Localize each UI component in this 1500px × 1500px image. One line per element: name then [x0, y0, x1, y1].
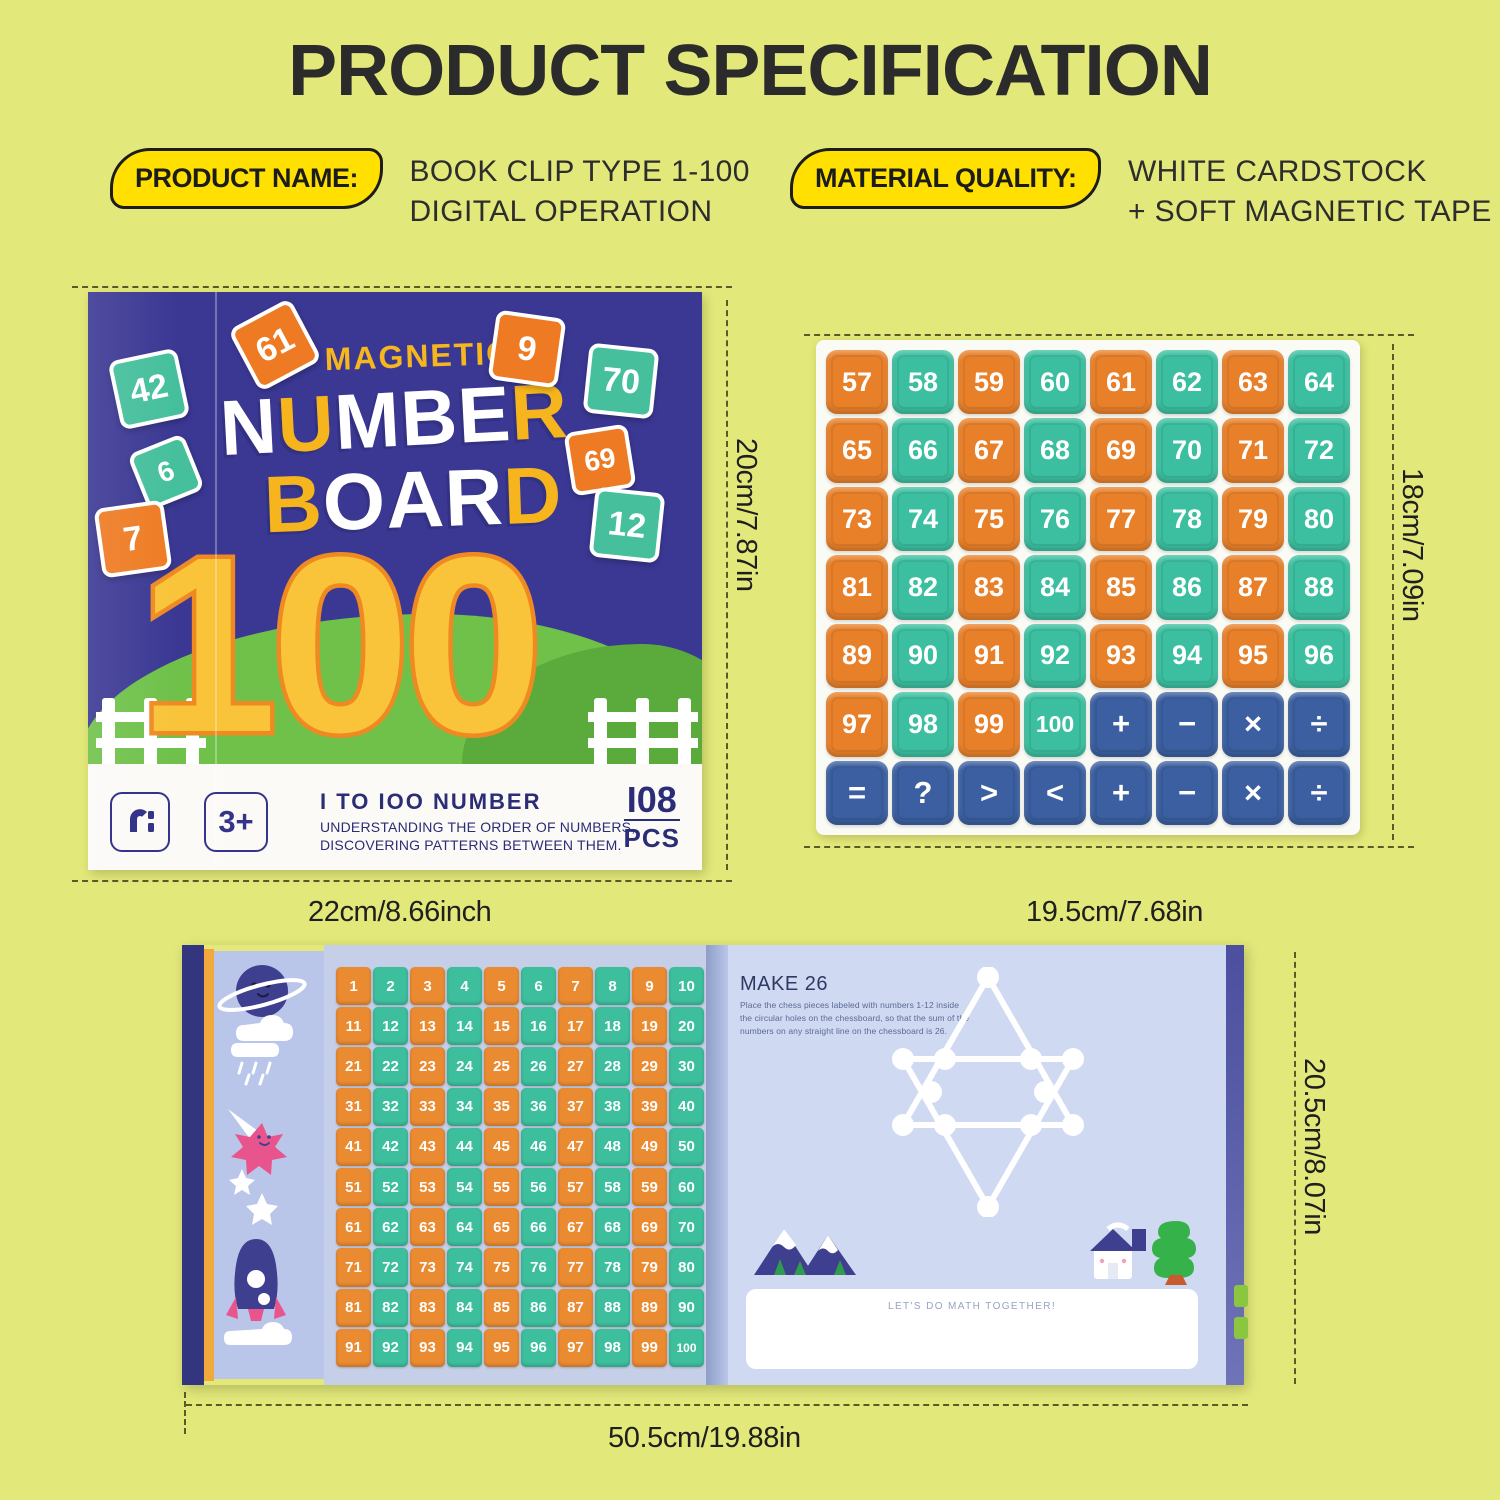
cover-pcs-number: I08 [624, 783, 680, 817]
book-left-cover [182, 945, 204, 1385]
grid-tile-26[interactable]: 26 [521, 1047, 556, 1085]
tile-58[interactable]: 58 [892, 350, 954, 414]
spec-value-product-name-line2: DIGITAL OPERATION [409, 195, 712, 228]
grid-tile-98[interactable]: 98 [595, 1329, 630, 1367]
cover-pcs-label: PCS [624, 823, 680, 854]
age-badge: 3+ [204, 792, 268, 852]
tile-87[interactable]: 87 [1222, 555, 1284, 619]
book-dim-bottom-guide [186, 1404, 1248, 1406]
tile-100[interactable]: 100 [1024, 692, 1086, 756]
grid-tile-79[interactable]: 79 [632, 1248, 667, 1286]
planet-icon [217, 965, 307, 1017]
tile-−[interactable]: − [1156, 761, 1218, 825]
spec-label-material-quality: MATERIAL QUALITY: [790, 148, 1101, 209]
grid-tile-89[interactable]: 89 [632, 1289, 667, 1327]
book-height-label: 20.5cm/8.07in [1297, 1058, 1330, 1235]
spec-material-quality: MATERIAL QUALITY: WHITE CARDSTOCK + SOFT… [790, 148, 1492, 224]
grid-tile-41[interactable]: 41 [336, 1128, 371, 1166]
tile-64[interactable]: 64 [1288, 350, 1350, 414]
grid-tile-72[interactable]: 72 [373, 1248, 408, 1286]
grid-tile-31[interactable]: 31 [336, 1088, 371, 1126]
grid-tile-71[interactable]: 71 [336, 1248, 371, 1286]
tile-×[interactable]: × [1222, 761, 1284, 825]
grid-tile-85[interactable]: 85 [484, 1289, 519, 1327]
rocket-icon [224, 1239, 292, 1345]
grid-tile-9[interactable]: 9 [632, 967, 667, 1005]
grid-tile-20[interactable]: 20 [669, 1007, 704, 1045]
grid-tile-45[interactable]: 45 [484, 1128, 519, 1166]
grid-tile-84[interactable]: 84 [447, 1289, 482, 1327]
grid-tile-33[interactable]: 33 [410, 1088, 445, 1126]
grid-tile-2[interactable]: 2 [373, 967, 408, 1005]
cover-fold-line [88, 292, 217, 870]
grid-tile-97[interactable]: 97 [558, 1329, 593, 1367]
grid-tile-25[interactable]: 25 [484, 1047, 519, 1085]
grid-tile-6[interactable]: 6 [521, 967, 556, 1005]
grid-tile-69[interactable]: 69 [632, 1208, 667, 1246]
grid-tile-14[interactable]: 14 [447, 1007, 482, 1045]
book-spine-edge [204, 949, 214, 1381]
box-height-label: 20cm/7.87in [729, 438, 762, 592]
grid-tile-28[interactable]: 28 [595, 1047, 630, 1085]
tile-71[interactable]: 71 [1222, 418, 1284, 482]
grid-tile-51[interactable]: 51 [336, 1168, 371, 1206]
tile-=[interactable]: = [826, 761, 888, 825]
grid-tile-40[interactable]: 40 [669, 1088, 704, 1126]
tile-80[interactable]: 80 [1288, 487, 1350, 551]
tile-91[interactable]: 91 [958, 624, 1020, 688]
grid-tile-15[interactable]: 15 [484, 1007, 519, 1045]
grid-tile-38[interactable]: 38 [595, 1088, 630, 1126]
grid-tile-81[interactable]: 81 [336, 1289, 371, 1327]
grid-tile-46[interactable]: 46 [521, 1128, 556, 1166]
cover-desc-title: I TO IOO NUMBER [320, 789, 635, 815]
grid-tile-91[interactable]: 91 [336, 1329, 371, 1367]
grid-tile-7[interactable]: 7 [558, 967, 593, 1005]
grid-tile-53[interactable]: 53 [410, 1168, 445, 1206]
spec-value-product-name-line1: BOOK CLIP TYPE 1-100 [409, 155, 749, 188]
grid-tile-86[interactable]: 86 [521, 1289, 556, 1327]
spec-value-material-quality-line2: + SOFT MAGNETIC TAPE [1128, 195, 1492, 228]
grid-tile-39[interactable]: 39 [632, 1088, 667, 1126]
grid-tile-96[interactable]: 96 [521, 1329, 556, 1367]
rain-cloud-icon [231, 1015, 293, 1084]
cover-card-12: 12 [589, 487, 666, 564]
mountain-icon [750, 1221, 870, 1277]
grid-tile-11[interactable]: 11 [336, 1007, 371, 1045]
tile-81[interactable]: 81 [826, 555, 888, 619]
tile-66[interactable]: 66 [892, 418, 954, 482]
book-dim-left-guide [184, 1392, 186, 1434]
tile-+[interactable]: + [1090, 761, 1152, 825]
tile-grid: 5758596061626364656667686970717273747576… [826, 350, 1350, 825]
cover-description: I TO IOO NUMBER UNDERSTANDING THE ORDER … [320, 789, 635, 854]
tile-72[interactable]: 72 [1288, 418, 1350, 482]
spec-value-material-quality: WHITE CARDSTOCK + SOFT MAGNETIC TAPE [1128, 148, 1492, 231]
star-icon [229, 1169, 278, 1225]
tile-62[interactable]: 62 [1156, 350, 1218, 414]
grid-tile-100[interactable]: 100 [669, 1329, 704, 1367]
cover-desc-line1: UNDERSTANDING THE ORDER OF NUMBERS, [320, 818, 635, 836]
grid-tile-80[interactable]: 80 [669, 1248, 704, 1286]
tile-92[interactable]: 92 [1024, 624, 1086, 688]
tile-69[interactable]: 69 [1090, 418, 1152, 482]
shooting-star-icon [228, 1109, 287, 1175]
book-dim-right-guide [1294, 952, 1296, 1384]
tile-86[interactable]: 86 [1156, 555, 1218, 619]
grid-tile-49[interactable]: 49 [632, 1128, 667, 1166]
board-dim-bottom-guide [804, 846, 1414, 848]
book-left-page: 1234567891011121314151617181920212223242… [324, 945, 716, 1385]
box-dim-right-guide [726, 300, 728, 870]
grid-tile-59[interactable]: 59 [632, 1168, 667, 1206]
tile-65[interactable]: 65 [826, 418, 888, 482]
tile-<[interactable]: < [1024, 761, 1086, 825]
tile-−[interactable]: − [1156, 692, 1218, 756]
grid-tile-36[interactable]: 36 [521, 1088, 556, 1126]
grid-tile-21[interactable]: 21 [336, 1047, 371, 1085]
tile-63[interactable]: 63 [1222, 350, 1284, 414]
grid-tile-24[interactable]: 24 [447, 1047, 482, 1085]
grid-tile-73[interactable]: 73 [410, 1248, 445, 1286]
green-tab-1 [1234, 1285, 1248, 1307]
grid-tile-68[interactable]: 68 [595, 1208, 630, 1246]
grid-tile-18[interactable]: 18 [595, 1007, 630, 1045]
grid-tile-87[interactable]: 87 [558, 1289, 593, 1327]
tile-÷[interactable]: ÷ [1288, 692, 1350, 756]
grid-tile-82[interactable]: 82 [373, 1289, 408, 1327]
spec-value-product-name: BOOK CLIP TYPE 1-100 DIGITAL OPERATION [409, 148, 749, 231]
grid-tile-13[interactable]: 13 [410, 1007, 445, 1045]
tile-88[interactable]: 88 [1288, 555, 1350, 619]
star-of-david-diagram [838, 967, 1138, 1217]
grid-tile-62[interactable]: 62 [373, 1208, 408, 1246]
grid-tile-52[interactable]: 52 [373, 1168, 408, 1206]
grid-tile-37[interactable]: 37 [558, 1088, 593, 1126]
grid-tile-90[interactable]: 90 [669, 1289, 704, 1327]
grid-tile-64[interactable]: 64 [447, 1208, 482, 1246]
grid-tile-55[interactable]: 55 [484, 1168, 519, 1206]
grid-tile-16[interactable]: 16 [521, 1007, 556, 1045]
grid-tile-58[interactable]: 58 [595, 1168, 630, 1206]
grid-tile-1[interactable]: 1 [336, 967, 371, 1005]
tile-73[interactable]: 73 [826, 487, 888, 551]
cover-card-69: 69 [563, 423, 636, 496]
page-title: PRODUCT SPECIFICATION [0, 30, 1500, 112]
grid-tile-17[interactable]: 17 [558, 1007, 593, 1045]
tile-77[interactable]: 77 [1090, 487, 1152, 551]
box-dim-bottom-guide [72, 880, 732, 882]
grid-tile-60[interactable]: 60 [669, 1168, 704, 1206]
grid-tile-8[interactable]: 8 [595, 967, 630, 1005]
tile-÷[interactable]: ÷ [1288, 761, 1350, 825]
grid-tile-92[interactable]: 92 [373, 1329, 408, 1367]
board-dim-right-guide [1392, 344, 1394, 840]
book-right-cover [1226, 945, 1244, 1385]
open-book-spread: 1234567891011121314151617181920212223242… [182, 945, 1244, 1385]
tile-74[interactable]: 74 [892, 487, 954, 551]
grid-tile-47[interactable]: 47 [558, 1128, 593, 1166]
tile-67[interactable]: 67 [958, 418, 1020, 482]
grid-tile-44[interactable]: 44 [447, 1128, 482, 1166]
tile-76[interactable]: 76 [1024, 487, 1086, 551]
tile-98[interactable]: 98 [892, 692, 954, 756]
grid-tile-34[interactable]: 34 [447, 1088, 482, 1126]
book-right-page: MAKE 26 Place the chess pieces labeled w… [728, 945, 1226, 1385]
book-width-label: 50.5cm/19.88in [608, 1422, 801, 1455]
grid-tile-54[interactable]: 54 [447, 1168, 482, 1206]
grid-tile-78[interactable]: 78 [595, 1248, 630, 1286]
grid-tile-43[interactable]: 43 [410, 1128, 445, 1166]
grid-tile-95[interactable]: 95 [484, 1329, 519, 1367]
tile-94[interactable]: 94 [1156, 624, 1218, 688]
tile-82[interactable]: 82 [892, 555, 954, 619]
board-dim-top-guide [804, 334, 1414, 336]
grid-tile-23[interactable]: 23 [410, 1047, 445, 1085]
tile-79[interactable]: 79 [1222, 487, 1284, 551]
grid-tile-19[interactable]: 19 [632, 1007, 667, 1045]
tile-89[interactable]: 89 [826, 624, 888, 688]
tile-59[interactable]: 59 [958, 350, 1020, 414]
tile-93[interactable]: 93 [1090, 624, 1152, 688]
grid-tile-93[interactable]: 93 [410, 1329, 445, 1367]
grid-tile-50[interactable]: 50 [669, 1128, 704, 1166]
grid-tile-75[interactable]: 75 [484, 1248, 519, 1286]
math-box-label: LET'S DO MATH TOGETHER! [746, 1289, 1198, 1312]
cover-card-9: 9 [487, 309, 566, 388]
grid-tile-42[interactable]: 42 [373, 1128, 408, 1166]
grid-tile-77[interactable]: 77 [558, 1248, 593, 1286]
magnetic-tile-board: 5758596061626364656667686970717273747576… [816, 340, 1360, 835]
board-width-label: 19.5cm/7.68in [1026, 896, 1203, 929]
grid-tile-29[interactable]: 29 [632, 1047, 667, 1085]
grid-tile-76[interactable]: 76 [521, 1248, 556, 1286]
tile-×[interactable]: × [1222, 692, 1284, 756]
cover-pieces-count: I08 PCS [624, 783, 680, 854]
grid-tile-4[interactable]: 4 [447, 967, 482, 1005]
grid-tile-3[interactable]: 3 [410, 967, 445, 1005]
grid-tile-63[interactable]: 63 [410, 1208, 445, 1246]
tile-85[interactable]: 85 [1090, 555, 1152, 619]
grid-tile-35[interactable]: 35 [484, 1088, 519, 1126]
grid-tile-67[interactable]: 67 [558, 1208, 593, 1246]
grid-tile-56[interactable]: 56 [521, 1168, 556, 1206]
grid-tile-12[interactable]: 12 [373, 1007, 408, 1045]
box-dim-top-guide [72, 286, 732, 288]
tile-70[interactable]: 70 [1156, 418, 1218, 482]
tile-84[interactable]: 84 [1024, 555, 1086, 619]
grid-tile-94[interactable]: 94 [447, 1329, 482, 1367]
book-gutter [706, 945, 728, 1385]
tile-75[interactable]: 75 [958, 487, 1020, 551]
tree-icon [1146, 1219, 1204, 1285]
product-box-cover: MAGNETIC NUMBER BOARD 100 61 42 6 7 9 70… [88, 292, 702, 870]
cover-card-70: 70 [583, 343, 660, 420]
tile-68[interactable]: 68 [1024, 418, 1086, 482]
cover-desc-line2: DISCOVERING PATTERNS BETWEEN THEM. [320, 836, 635, 854]
grid-tile-27[interactable]: 27 [558, 1047, 593, 1085]
grid-tile-99[interactable]: 99 [632, 1329, 667, 1367]
magnet-icon [110, 792, 170, 852]
grid-tile-83[interactable]: 83 [410, 1289, 445, 1327]
make26-title: MAKE 26 [740, 973, 828, 996]
math-answer-box[interactable]: LET'S DO MATH TOGETHER! [746, 1289, 1198, 1369]
tile-96[interactable]: 96 [1288, 624, 1350, 688]
box-width-label: 22cm/8.66inch [308, 896, 491, 929]
grid-tile-32[interactable]: 32 [373, 1088, 408, 1126]
grid-tile-5[interactable]: 5 [484, 967, 519, 1005]
grid-tile-65[interactable]: 65 [484, 1208, 519, 1246]
tile-61[interactable]: 61 [1090, 350, 1152, 414]
spec-value-material-quality-line1: WHITE CARDSTOCK [1128, 155, 1427, 188]
tile-60[interactable]: 60 [1024, 350, 1086, 414]
grid-tile-30[interactable]: 30 [669, 1047, 704, 1085]
spec-label-product-name: PRODUCT NAME: [110, 148, 383, 209]
tile-?[interactable]: ? [892, 761, 954, 825]
grid-tile-66[interactable]: 66 [521, 1208, 556, 1246]
grid-tile-10[interactable]: 10 [669, 967, 704, 1005]
grid-tile-88[interactable]: 88 [595, 1289, 630, 1327]
grid-tile-70[interactable]: 70 [669, 1208, 704, 1246]
tile-+[interactable]: + [1090, 692, 1152, 756]
board-height-label: 18cm/7.09in [1395, 468, 1428, 622]
tile-83[interactable]: 83 [958, 555, 1020, 619]
tile-97[interactable]: 97 [826, 692, 888, 756]
spec-product-name: PRODUCT NAME: BOOK CLIP TYPE 1-100 DIGIT… [110, 148, 750, 224]
tile-78[interactable]: 78 [1156, 487, 1218, 551]
grid-tile-22[interactable]: 22 [373, 1047, 408, 1085]
tile-99[interactable]: 99 [958, 692, 1020, 756]
tile-90[interactable]: 90 [892, 624, 954, 688]
tile-95[interactable]: 95 [1222, 624, 1284, 688]
grid-tile-57[interactable]: 57 [558, 1168, 593, 1206]
grid-tile-48[interactable]: 48 [595, 1128, 630, 1166]
space-illustration-panel [214, 951, 324, 1379]
tile->[interactable]: > [958, 761, 1020, 825]
hundred-number-grid: 1234567891011121314151617181920212223242… [336, 967, 704, 1367]
tile-57[interactable]: 57 [826, 350, 888, 414]
green-tab-2 [1234, 1317, 1248, 1339]
grid-tile-61[interactable]: 61 [336, 1208, 371, 1246]
grid-tile-74[interactable]: 74 [447, 1248, 482, 1286]
cover-big-number: 100 [138, 520, 668, 770]
